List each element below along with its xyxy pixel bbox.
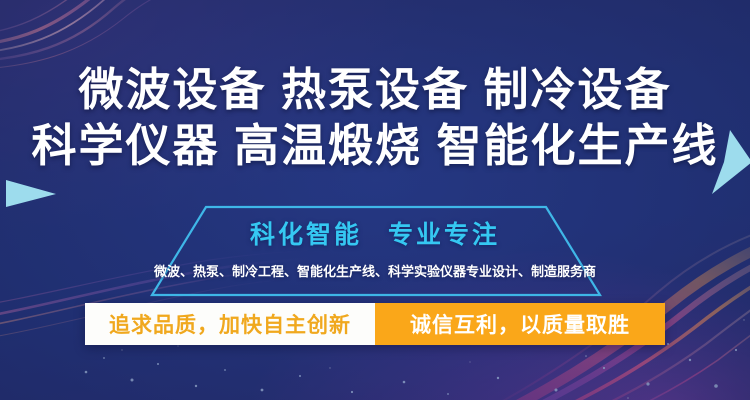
subtitle-left: 科化智能 — [250, 221, 362, 249]
slogan-left: 追求品质，加快自主创新 — [85, 303, 375, 345]
page-title: 微波设备 热泵设备 制冷设备 科学仪器 高温煅烧 智能化生产线 — [0, 62, 750, 174]
subtitle-cyan: 科化智能专业专注 — [0, 219, 750, 251]
play-triangle-icon — [4, 176, 58, 208]
headline-line-1: 微波设备 热泵设备 制冷设备 — [0, 62, 750, 118]
promotional-banner: 微波设备 热泵设备 制冷设备 科学仪器 高温煅烧 智能化生产线 科化智能专业专注… — [0, 0, 750, 400]
subtitle-right: 专业专注 — [388, 221, 500, 249]
slogan-right: 诚信互利，以质量取胜 — [375, 303, 665, 345]
subtitle-description: 微波、热泵、制冷工程、智能化生产线、科学实验仪器专业设计、制造服务商 — [0, 263, 750, 281]
headline-line-2: 科学仪器 高温煅烧 智能化生产线 — [0, 118, 750, 174]
slogan-bar: 追求品质，加快自主创新 诚信互利，以质量取胜 — [85, 303, 665, 345]
